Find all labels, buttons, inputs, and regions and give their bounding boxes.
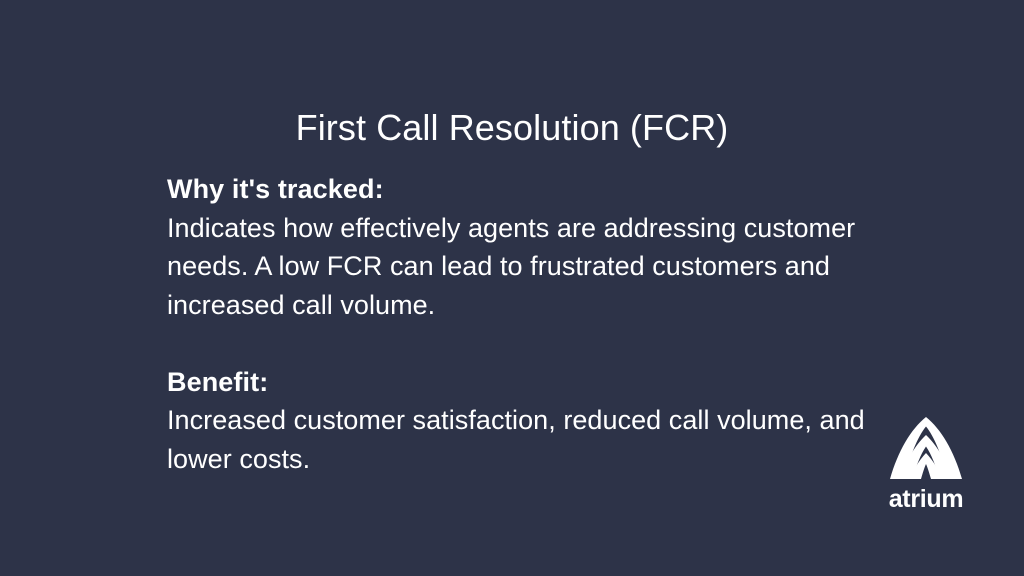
slide-body: Why it's tracked: Indicates how effectiv… xyxy=(167,170,867,478)
atrium-arch-icon xyxy=(878,415,974,481)
brand-logo: atrium xyxy=(878,415,974,515)
section-heading: Benefit: xyxy=(167,363,867,402)
section-body-text: Increased customer satisfaction, reduced… xyxy=(167,401,867,478)
section-heading: Why it's tracked: xyxy=(167,170,867,209)
section-why-its-tracked: Why it's tracked: Indicates how effectiv… xyxy=(167,170,867,324)
section-benefit: Benefit: Increased customer satisfaction… xyxy=(167,363,867,479)
page-title: First Call Resolution (FCR) xyxy=(0,106,1024,150)
slide-canvas: First Call Resolution (FCR) Why it's tra… xyxy=(0,0,1024,576)
section-body-text: Indicates how effectively agents are add… xyxy=(167,209,867,325)
brand-wordmark: atrium xyxy=(878,485,974,513)
